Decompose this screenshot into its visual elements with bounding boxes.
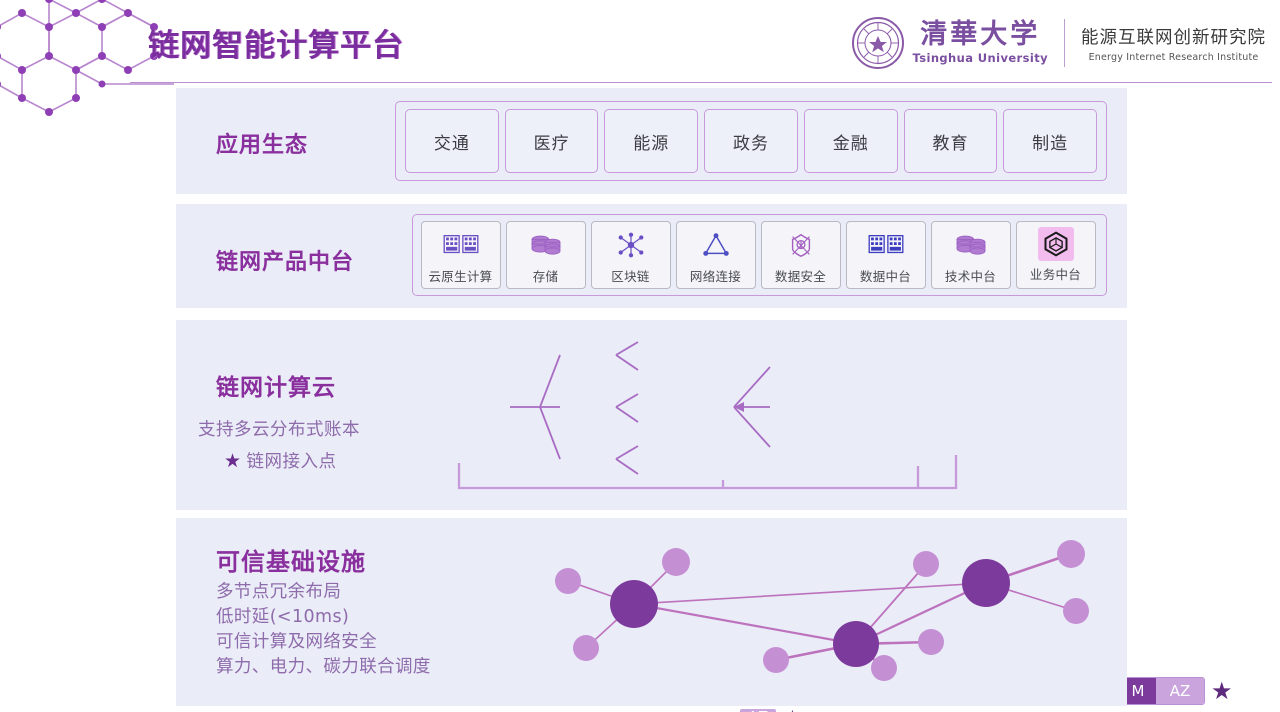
database-stack-icon bbox=[526, 227, 566, 263]
edge-cloud-node-1[interactable]: M AZ bbox=[1119, 677, 1205, 705]
cloud-topology-connectors bbox=[440, 320, 1127, 510]
star-icon: ★ bbox=[224, 450, 242, 472]
product-card-network-connection[interactable]: 网络连接 bbox=[676, 221, 756, 289]
bullet-line-2: 低时延(<10ms) bbox=[216, 605, 431, 630]
product-card-label: 云原生计算 bbox=[428, 266, 492, 285]
shield-lock-icon bbox=[781, 227, 821, 263]
server-grid-icon bbox=[441, 227, 481, 263]
network-graph-icon bbox=[536, 526, 1116, 698]
product-card-cloud-native-compute[interactable]: 云原生计算 bbox=[421, 221, 501, 289]
app-card-traffic[interactable]: 交通 bbox=[405, 109, 499, 173]
hexagon-cube-icon bbox=[1038, 227, 1074, 261]
public-cloud-az-node-3[interactable]: AZ bbox=[738, 707, 778, 712]
slide-canvas: 链网智能计算平台 清華大学 Tsinghua University bbox=[0, 0, 1280, 712]
header-divider bbox=[130, 82, 1272, 83]
layer-label-compute-cloud: 链网计算云 bbox=[216, 368, 336, 402]
page-header: 链网智能计算平台 清華大学 Tsinghua University bbox=[0, 0, 1280, 88]
compute-cloud-legend: ★ 链网接入点 bbox=[224, 448, 337, 473]
university-name: 清華大学 Tsinghua University bbox=[913, 21, 1048, 64]
institute-name: 能源互联网创新研究院 Energy Internet Research Inst… bbox=[1081, 24, 1266, 63]
layer-label-product-platform: 链网产品中台 bbox=[216, 244, 354, 276]
institute-name-en: Energy Internet Research Institute bbox=[1081, 52, 1266, 63]
product-card-label: 数据安全 bbox=[775, 266, 826, 285]
app-card-government[interactable]: 政务 bbox=[704, 109, 798, 173]
layer-product-platform: 链网产品中台 云原生计算 bbox=[176, 204, 1127, 308]
product-card-tech-midplatform[interactable]: 技术中台 bbox=[931, 221, 1011, 289]
layer-compute-cloud: 链网计算云 支持多云分布式账本 ★ 链网接入点 bbox=[176, 320, 1127, 510]
database-stack-icon bbox=[951, 227, 991, 263]
blockchain-nodes-icon bbox=[611, 227, 651, 263]
layer-label-app-ecosystem: 应用生态 bbox=[216, 127, 308, 159]
product-card-group: 云原生计算 存储 bbox=[412, 214, 1107, 296]
app-card-healthcare[interactable]: 医疗 bbox=[505, 109, 599, 173]
product-card-data-midplatform[interactable]: 数据中台 bbox=[846, 221, 926, 289]
layer-app-ecosystem: 应用生态 交通 医疗 能源 政务 金融 教育 制造 bbox=[176, 88, 1127, 194]
app-card-manufacturing[interactable]: 制造 bbox=[1003, 109, 1097, 173]
layer-label-trusted-infrastructure: 可信基础设施 bbox=[216, 542, 366, 577]
app-card-education[interactable]: 教育 bbox=[904, 109, 998, 173]
product-card-label: 存储 bbox=[533, 266, 559, 285]
page-title: 链网智能计算平台 bbox=[148, 20, 404, 65]
trusted-infrastructure-bullets: 多节点冗余布局 低时延(<10ms) 可信计算及网络安全 算力、电力、碳力联合调… bbox=[216, 580, 431, 679]
brand-lockup: 清華大学 Tsinghua University 能源互联网创新研究院 Ener… bbox=[851, 14, 1266, 72]
access-point-star-icon-5: ★ bbox=[1211, 679, 1233, 703]
product-card-label: 技术中台 bbox=[945, 266, 996, 285]
university-name-cn: 清華大学 bbox=[913, 21, 1048, 49]
product-card-data-security[interactable]: 数据安全 bbox=[761, 221, 841, 289]
app-card-group: 交通 医疗 能源 政务 金融 教育 制造 bbox=[395, 101, 1107, 181]
access-point-star-icon-2: ★ bbox=[783, 708, 802, 712]
edge-cloud-az-label: AZ bbox=[1156, 678, 1204, 704]
product-card-label: 数据中台 bbox=[860, 266, 911, 285]
app-card-energy[interactable]: 能源 bbox=[604, 109, 698, 173]
university-name-en: Tsinghua University bbox=[913, 51, 1048, 65]
app-card-finance[interactable]: 金融 bbox=[804, 109, 898, 173]
server-grid-icon bbox=[866, 227, 906, 263]
bullet-line-1: 多节点冗余布局 bbox=[216, 580, 431, 605]
compute-cloud-subtitle: 支持多云分布式账本 bbox=[198, 416, 360, 441]
bullet-line-4: 算力、电力、碳力联合调度 bbox=[216, 655, 431, 680]
compute-cloud-legend-label: 链网接入点 bbox=[247, 448, 337, 473]
layer-trusted-infrastructure: 可信基础设施 多节点冗余布局 低时延(<10ms) 可信计算及网络安全 算力、电… bbox=[176, 518, 1127, 706]
product-card-business-midplatform[interactable]: 业务中台 bbox=[1016, 221, 1096, 289]
product-card-blockchain[interactable]: 区块链 bbox=[591, 221, 671, 289]
institute-name-cn: 能源互联网创新研究院 bbox=[1081, 24, 1266, 49]
brand-divider bbox=[1064, 19, 1065, 67]
product-card-label: 业务中台 bbox=[1030, 264, 1081, 283]
product-card-label: 区块链 bbox=[611, 266, 649, 285]
product-card-label: 网络连接 bbox=[690, 266, 741, 285]
product-card-storage[interactable]: 存储 bbox=[506, 221, 586, 289]
bullet-line-3: 可信计算及网络安全 bbox=[216, 630, 431, 655]
tsinghua-seal-icon bbox=[851, 16, 905, 70]
network-triangle-icon bbox=[696, 227, 736, 263]
